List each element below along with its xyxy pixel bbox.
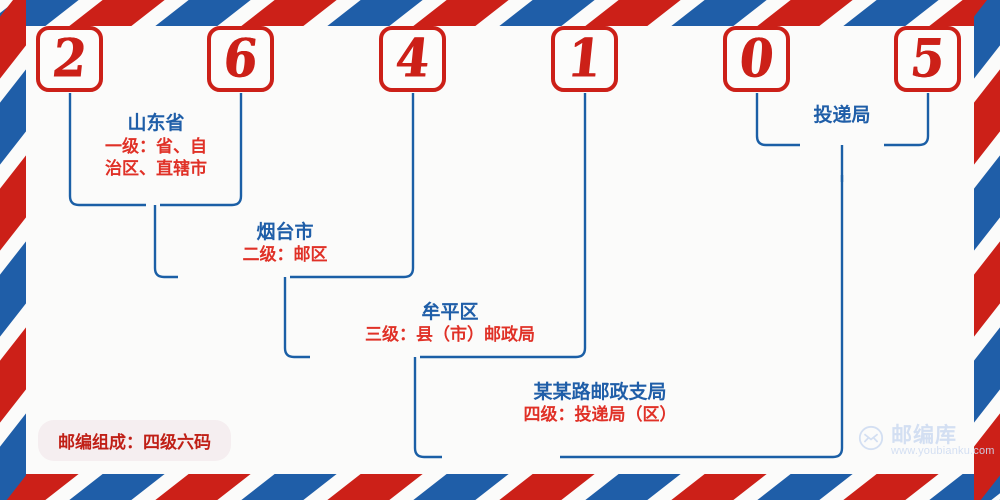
level-1-label: 山东省 一级：省、自 治区、直辖市 <box>71 113 241 179</box>
airmail-stripe <box>69 0 164 26</box>
airmail-stripe <box>155 0 250 26</box>
airmail-stripe <box>929 474 1000 500</box>
envelope-circle-icon <box>858 425 884 456</box>
level-2-desc: 二级：邮区 <box>185 245 385 264</box>
airmail-stripe <box>0 155 26 250</box>
airmail-stripe <box>413 474 508 500</box>
watermark-url: www.youbianku.com <box>891 446 995 458</box>
status-badge: 邮编组成：四级六码 <box>38 420 231 461</box>
airmail-stripe <box>0 69 26 164</box>
airmail-stripe <box>974 327 1000 422</box>
airmail-stripe <box>843 474 938 500</box>
level-4-label: 某某路邮政支局 四级：投递局（区） <box>455 382 745 424</box>
postcode-digit-box-2[interactable]: 6 <box>207 26 274 92</box>
airmail-stripe <box>0 0 79 26</box>
level-1-desc-line-2: 治区、直辖市 <box>71 158 241 179</box>
airmail-border-top <box>0 0 1000 26</box>
digit-2-glyph: 6 <box>221 33 260 86</box>
airmail-stripe <box>843 0 938 26</box>
airmail-border-bottom <box>0 474 1000 500</box>
airmail-stripe <box>69 474 164 500</box>
airmail-stripe <box>413 0 508 26</box>
airmail-stripe <box>499 474 594 500</box>
airmail-stripe <box>974 155 1000 250</box>
delivery-office-label: 投递局 <box>772 105 912 126</box>
airmail-stripe <box>671 474 766 500</box>
airmail-stripe <box>0 327 26 422</box>
airmail-stripe <box>929 0 1000 26</box>
watermark-brand: 邮编库 <box>891 424 995 446</box>
digit-6-glyph: 5 <box>908 33 947 86</box>
badge-text: 邮编组成：四级六码 <box>58 433 211 453</box>
airmail-stripe <box>974 0 1000 79</box>
postcode-infographic: 2 6 4 1 0 5 山东省 一级：省、自 治区、直辖市 烟台市 二级：邮区 … <box>0 0 1000 500</box>
watermark: 邮编库 www.youbianku.com <box>858 424 995 458</box>
digit-4-glyph: 1 <box>565 33 604 86</box>
airmail-stripe <box>585 474 680 500</box>
airmail-stripe <box>241 474 336 500</box>
level-3-label: 牟平区 三级：县（市）邮政局 <box>305 302 595 344</box>
airmail-stripe <box>585 0 680 26</box>
airmail-stripe <box>499 0 594 26</box>
delivery-office-name: 投递局 <box>772 105 912 126</box>
airmail-stripe <box>974 69 1000 164</box>
postcode-digit-box-4[interactable]: 1 <box>551 26 618 92</box>
airmail-stripe <box>327 474 422 500</box>
digit-3-glyph: 4 <box>393 33 432 86</box>
airmail-stripe <box>974 241 1000 336</box>
level-2-label: 烟台市 二级：邮区 <box>185 222 385 264</box>
level-4-name: 某某路邮政支局 <box>455 382 745 403</box>
level-3-desc: 三级：县（市）邮政局 <box>305 325 595 344</box>
postcode-digit-box-5[interactable]: 0 <box>723 26 790 92</box>
airmail-stripe <box>241 0 336 26</box>
level-2-name: 烟台市 <box>185 222 385 243</box>
airmail-border-left <box>0 0 26 500</box>
airmail-stripe <box>0 413 26 500</box>
airmail-stripe <box>0 474 79 500</box>
airmail-stripe <box>0 0 26 79</box>
level-1-desc-line-1: 一级：省、自 <box>71 136 241 157</box>
level-3-name: 牟平区 <box>305 302 595 323</box>
digit-5-glyph: 0 <box>737 33 776 86</box>
postcode-digit-box-3[interactable]: 4 <box>379 26 446 92</box>
level-1-name: 山东省 <box>71 113 241 134</box>
airmail-stripe <box>327 0 422 26</box>
postcode-digit-box-6[interactable]: 5 <box>894 26 961 92</box>
airmail-stripe <box>757 474 852 500</box>
airmail-stripe <box>155 474 250 500</box>
digit-1-glyph: 2 <box>50 33 89 86</box>
airmail-stripe <box>671 0 766 26</box>
airmail-stripe <box>0 241 26 336</box>
postcode-digit-box-1[interactable]: 2 <box>36 26 103 92</box>
level-4-desc: 四级：投递局（区） <box>455 405 745 424</box>
airmail-stripe <box>757 0 852 26</box>
